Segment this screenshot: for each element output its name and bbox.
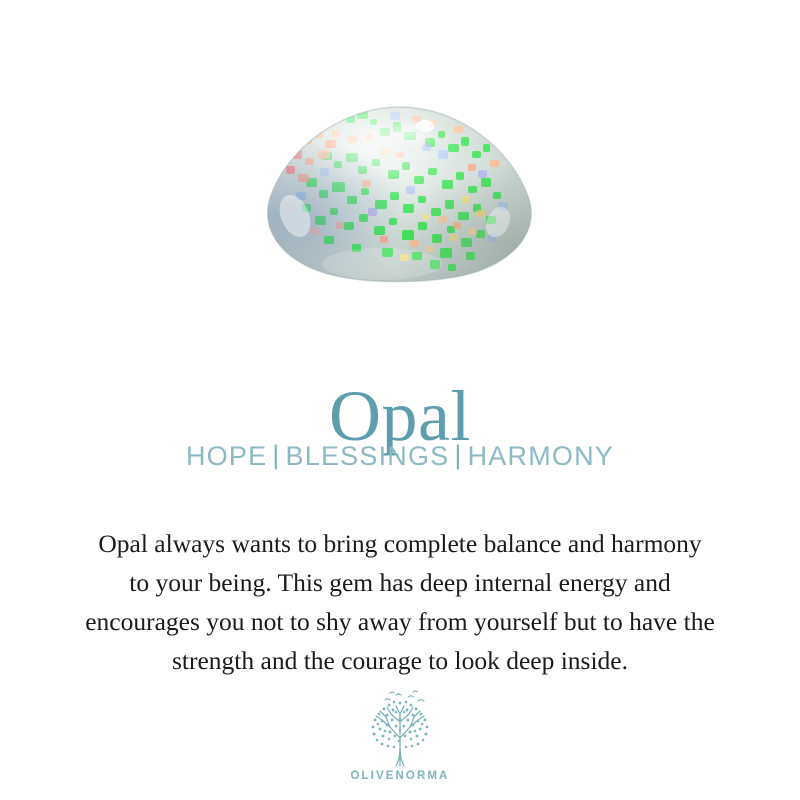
keyword-separator: | [267, 440, 285, 470]
keyword-subtitle: HOPE|BLESSINGS|HARMONY [0, 443, 800, 470]
opal-gemstone-image [0, 104, 800, 294]
keyword-separator: | [449, 440, 467, 470]
description-line: to your being. This gem has deep interna… [20, 563, 780, 602]
keyword-hope: HOPE [186, 441, 267, 471]
description-line: encourages you not to shy away from your… [20, 602, 780, 641]
description-paragraph: Opal always wants to bring complete bala… [20, 524, 780, 680]
keyword-harmony: HARMONY [468, 441, 614, 471]
brand-name: OLIVENORMA [351, 771, 450, 783]
opal-gemstone-graphic [262, 104, 538, 286]
keyword-blessings: BLESSINGS [286, 441, 450, 471]
tree-of-life-icon [363, 690, 437, 768]
brand-logo[interactable]: OLIVENORMA [0, 690, 800, 783]
description-line: strength and the courage to look deep in… [20, 641, 780, 680]
gemstone-info-card: Opal HOPE|BLESSINGS|HARMONY Opal always … [0, 0, 800, 800]
description-line: Opal always wants to bring complete bala… [20, 524, 780, 563]
